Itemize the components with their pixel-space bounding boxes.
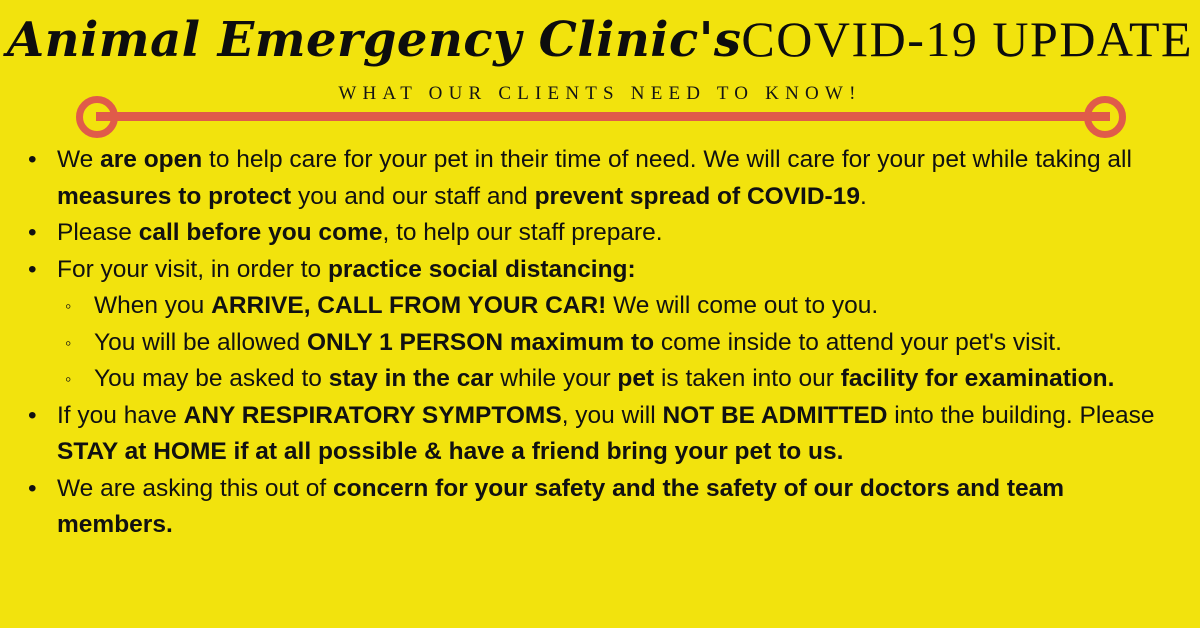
divider-rule bbox=[96, 112, 1110, 121]
page-title-caps-part: COVID-19 UPDATE bbox=[741, 11, 1193, 67]
sub-list-item: ◦You may be asked to stay in the car whi… bbox=[57, 361, 1182, 398]
bullet-marker-icon: • bbox=[28, 252, 42, 289]
list-item: •We are open to help care for your pet i… bbox=[0, 142, 1200, 215]
body-text: For your visit, in order to bbox=[57, 256, 328, 283]
emphasis-text: call before you come bbox=[139, 219, 383, 246]
body-text: If you have bbox=[57, 402, 184, 429]
body-text: come inside to attend your pet's visit. bbox=[654, 329, 1062, 356]
sub-bullet-list: ◦When you ARRIVE, CALL FROM YOUR CAR! We… bbox=[57, 288, 1182, 398]
body-text: you and our staff and bbox=[291, 183, 534, 210]
sub-bullet-marker-icon: ◦ bbox=[65, 361, 81, 398]
sub-list-item: ◦When you ARRIVE, CALL FROM YOUR CAR! We… bbox=[57, 288, 1182, 325]
list-item-text: Please call before you come, to help our… bbox=[57, 219, 663, 246]
body-text: You will be allowed bbox=[94, 329, 307, 356]
body-text: to help care for your pet in their time … bbox=[202, 146, 1132, 173]
body-text: When you bbox=[94, 292, 211, 319]
body-text: . bbox=[860, 183, 867, 210]
emphasis-text: are open bbox=[100, 146, 202, 173]
body-text: , to help our staff prepare. bbox=[382, 219, 662, 246]
emphasis-text: STAY at HOME if at all possible & have a… bbox=[57, 438, 843, 465]
body-text: is taken into our bbox=[654, 365, 841, 392]
list-item-text: We are asking this out of concern for yo… bbox=[57, 475, 1064, 539]
body-text: Please bbox=[57, 219, 139, 246]
bullet-marker-icon: • bbox=[28, 142, 42, 179]
emphasis-text: prevent spread of COVID-19 bbox=[535, 183, 860, 210]
list-item: •If you have ANY RESPIRATORY SYMPTOMS, y… bbox=[0, 398, 1200, 471]
emphasis-text: pet bbox=[617, 365, 654, 392]
body-text: We will come out to you. bbox=[606, 292, 878, 319]
body-text: into the building. Please bbox=[887, 402, 1154, 429]
list-item-text: We are open to help care for your pet in… bbox=[57, 146, 1132, 210]
emphasis-text: measures to protect bbox=[57, 183, 291, 210]
list-item-text: You will be allowed ONLY 1 PERSON maximu… bbox=[94, 329, 1062, 356]
body-text: We are asking this out of bbox=[57, 475, 333, 502]
list-item-text: For your visit, in order to practice soc… bbox=[57, 256, 636, 283]
bullet-marker-icon: • bbox=[28, 471, 42, 508]
announcement-body: •We are open to help care for your pet i… bbox=[0, 142, 1200, 544]
circle-outline-icon-right bbox=[1084, 96, 1126, 138]
body-text: We bbox=[57, 146, 100, 173]
list-item: •For your visit, in order to practice so… bbox=[0, 252, 1200, 398]
page-title-script-part: Animal Emergency Clinic's bbox=[7, 12, 742, 68]
bullet-marker-icon: • bbox=[28, 215, 42, 252]
body-text: while your bbox=[494, 365, 618, 392]
sub-bullet-marker-icon: ◦ bbox=[65, 288, 81, 325]
bullet-list: •We are open to help care for your pet i… bbox=[0, 142, 1200, 544]
bullet-marker-icon: • bbox=[28, 398, 42, 435]
list-item: •Please call before you come, to help ou… bbox=[0, 215, 1200, 252]
body-text: , you will bbox=[562, 402, 663, 429]
sub-list-wrapper: ◦When you ARRIVE, CALL FROM YOUR CAR! We… bbox=[57, 288, 1182, 398]
covid-update-poster: Animal Emergency Clinic'sCOVID-19 UPDATE… bbox=[0, 0, 1200, 628]
emphasis-text: practice social distancing: bbox=[328, 256, 636, 283]
list-item-text: You may be asked to stay in the car whil… bbox=[94, 365, 1114, 392]
list-item: •We are asking this out of concern for y… bbox=[0, 471, 1200, 544]
sub-list-item: ◦You will be allowed ONLY 1 PERSON maxim… bbox=[57, 325, 1182, 362]
list-item-text: When you ARRIVE, CALL FROM YOUR CAR! We … bbox=[94, 292, 878, 319]
emphasis-text: stay in the car bbox=[329, 365, 494, 392]
body-text: You may be asked to bbox=[94, 365, 329, 392]
poster-header: Animal Emergency Clinic'sCOVID-19 UPDATE… bbox=[0, 0, 1200, 140]
emphasis-text: facility for examination. bbox=[841, 365, 1115, 392]
list-item-text: If you have ANY RESPIRATORY SYMPTOMS, yo… bbox=[57, 402, 1154, 466]
sub-bullet-marker-icon: ◦ bbox=[65, 325, 81, 362]
divider bbox=[70, 96, 1136, 140]
emphasis-text: ONLY 1 PERSON maximum to bbox=[307, 329, 654, 356]
emphasis-text: ARRIVE, CALL FROM YOUR CAR! bbox=[211, 292, 606, 319]
emphasis-text: ANY RESPIRATORY SYMPTOMS bbox=[184, 402, 562, 429]
emphasis-text: NOT BE ADMITTED bbox=[662, 402, 887, 429]
page-title: Animal Emergency Clinic'sCOVID-19 UPDATE bbox=[0, 14, 1200, 64]
